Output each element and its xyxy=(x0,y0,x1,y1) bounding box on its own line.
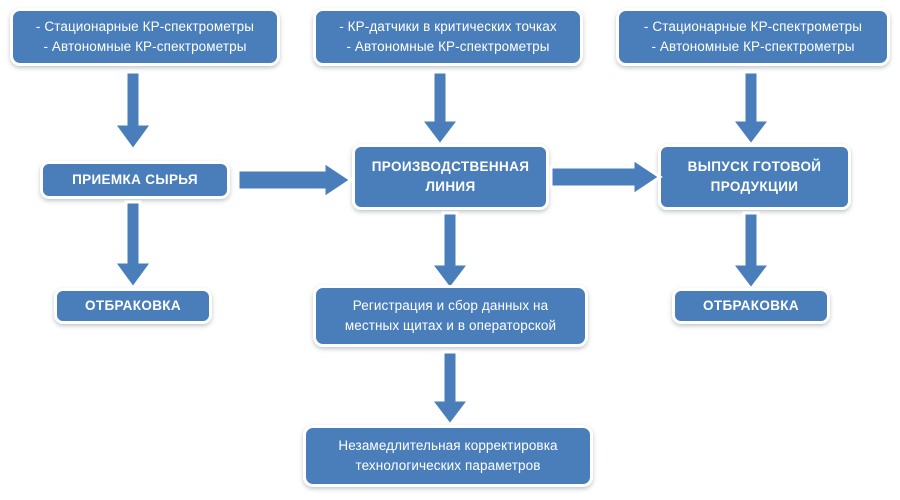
node-stage-finished-output-label: ВЫПУСК ГОТОВОЙ ПРОДУКЦИИ xyxy=(667,157,842,196)
node-reject-right-label: ОТБРАКОВКА xyxy=(681,296,821,316)
node-source-center[interactable]: - КР-датчики в критических точках - Авто… xyxy=(313,8,583,66)
arrow-source-left-to-intake xyxy=(111,70,155,154)
node-info-correction-label: Незамедлительная корректировка технологи… xyxy=(312,436,584,475)
process-flow-diagram: - Стационарные КР-спектрометры - Автоном… xyxy=(0,0,900,500)
arrow-registration-to-correction xyxy=(428,350,472,428)
node-info-registration[interactable]: Регистрация и сбор данных на местных щит… xyxy=(313,285,588,347)
node-reject-left[interactable]: ОТБРАКОВКА xyxy=(54,288,212,324)
node-stage-finished-output[interactable]: ВЫПУСК ГОТОВОЙ ПРОДУКЦИИ xyxy=(658,144,851,210)
arrow-output-to-reject-right xyxy=(729,211,773,293)
node-info-registration-label: Регистрация и сбор данных на местных щит… xyxy=(322,296,579,335)
node-stage-intake-label: ПРИЕМКА СЫРЬЯ xyxy=(49,170,221,190)
arrow-source-center-to-line xyxy=(418,70,462,148)
arrow-intake-to-line xyxy=(236,160,354,202)
node-reject-left-label: ОТБРАКОВКА xyxy=(63,296,203,316)
node-info-correction[interactable]: Незамедлительная корректировка технологи… xyxy=(303,425,593,487)
arrow-line-to-output xyxy=(549,157,663,199)
node-source-left-label: - Стационарные КР-спектрометры - Автоном… xyxy=(19,17,271,56)
node-stage-production-line-label: ПРОИЗВОДСТВЕННАЯ ЛИНИЯ xyxy=(361,157,540,196)
node-source-left[interactable]: - Стационарные КР-спектрометры - Автоном… xyxy=(10,8,280,66)
arrow-line-to-registration xyxy=(428,211,472,293)
arrow-source-right-to-output xyxy=(729,70,773,148)
node-stage-intake[interactable]: ПРИЕМКА СЫРЬЯ xyxy=(40,161,230,199)
node-stage-production-line[interactable]: ПРОИЗВОДСТВЕННАЯ ЛИНИЯ xyxy=(352,144,549,210)
node-source-right-label: - Стационарные КР-спектрометры - Автоном… xyxy=(625,17,881,56)
node-source-center-label: - КР-датчики в критических точках - Авто… xyxy=(322,17,574,56)
node-source-right[interactable]: - Стационарные КР-спектрометры - Автоном… xyxy=(616,8,890,66)
node-reject-right[interactable]: ОТБРАКОВКА xyxy=(672,288,830,324)
arrow-intake-to-reject-left xyxy=(111,200,155,292)
